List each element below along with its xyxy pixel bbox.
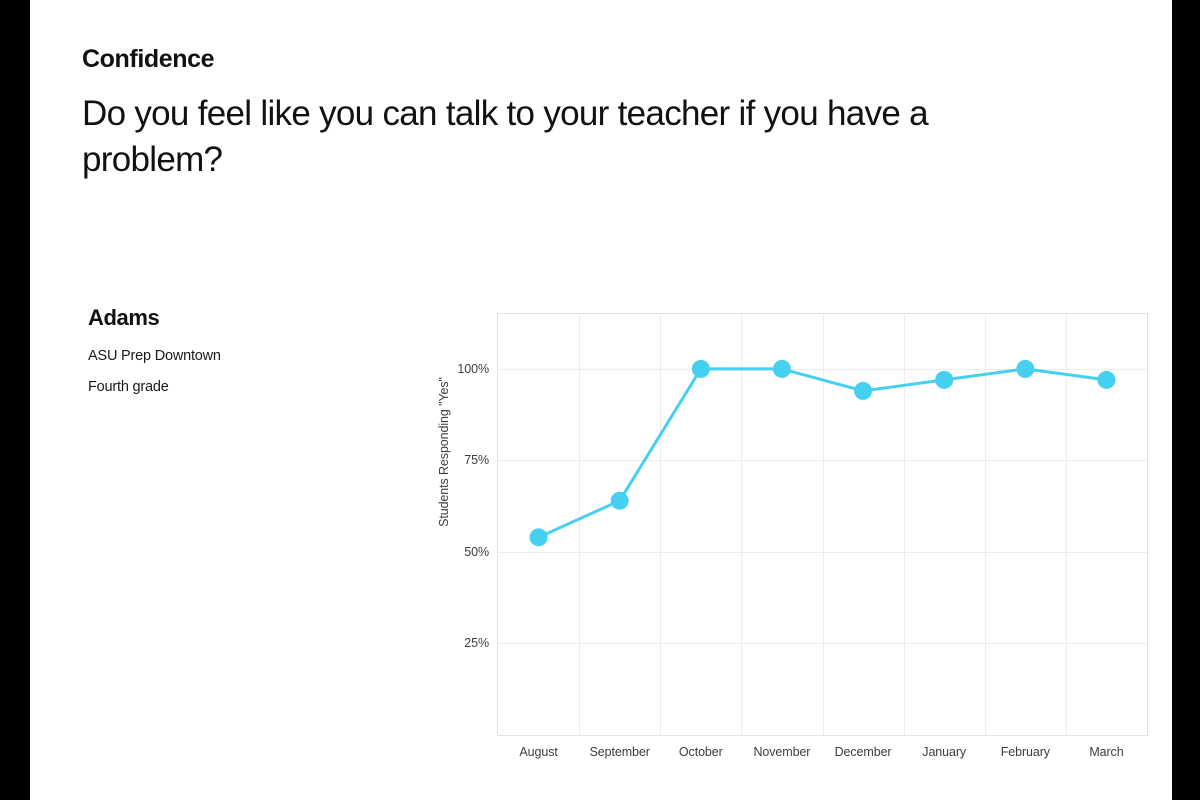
plot-area: 100%75%50%25% AugustSeptemberOctoberNove… (497, 313, 1148, 736)
x-axis-tick-label: February (1001, 745, 1050, 759)
data-point-marker[interactable] (854, 382, 872, 400)
survey-question: Do you feel like you can talk to your te… (82, 91, 982, 185)
student-school: ASU Prep Downtown (88, 348, 398, 364)
data-point-marker[interactable] (611, 492, 629, 510)
x-axis-tick-label: October (679, 745, 723, 759)
y-axis-label: Students Responding "Yes" (437, 332, 451, 572)
x-axis-tick-label: December (835, 745, 892, 759)
x-axis-tick-label: September (590, 745, 650, 759)
y-axis-tick-label: 50% (464, 545, 489, 559)
student-name: Adams (88, 305, 398, 331)
data-point-marker[interactable] (530, 528, 548, 546)
data-point-marker[interactable] (692, 360, 710, 378)
series-polyline (539, 369, 1107, 537)
x-axis-tick-label: March (1089, 745, 1123, 759)
x-axis-tick-label: August (519, 745, 557, 759)
x-axis-tick-label: January (922, 745, 966, 759)
x-axis-tick-label: November (754, 745, 811, 759)
student-meta-panel: Adams ASU Prep Downtown Fourth grade (88, 305, 398, 395)
y-axis-tick-label: 25% (464, 636, 489, 650)
slide-canvas: Confidence Do you feel like you can talk… (30, 0, 1172, 800)
series-line (498, 314, 1147, 735)
line-chart: Students Responding "Yes" 100%75%50%25% … (380, 295, 1170, 785)
data-point-marker[interactable] (773, 360, 791, 378)
slide-header: Confidence Do you feel like you can talk… (82, 46, 1042, 184)
category-eyebrow: Confidence (82, 46, 1042, 74)
data-point-marker[interactable] (935, 371, 953, 389)
y-axis-tick-label: 75% (464, 453, 489, 467)
y-axis-tick-label: 100% (457, 362, 489, 376)
data-point-marker[interactable] (1016, 360, 1034, 378)
student-grade: Fourth grade (88, 379, 398, 395)
data-point-marker[interactable] (1097, 371, 1115, 389)
